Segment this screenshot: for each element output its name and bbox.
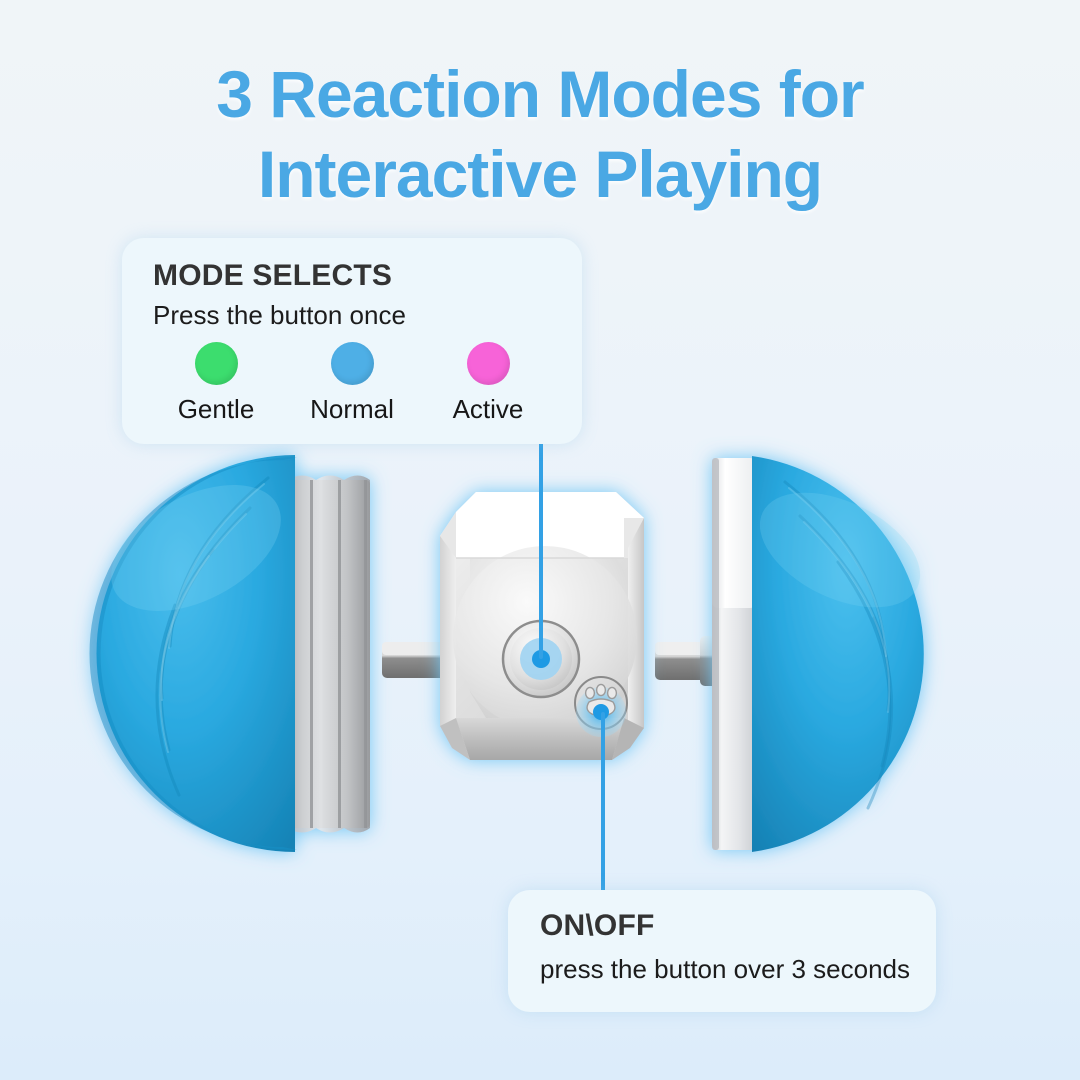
left-half-ball <box>90 455 371 852</box>
dot-blue-icon <box>331 342 374 385</box>
left-axle <box>382 642 448 678</box>
leader-line-mode <box>539 440 543 659</box>
leader-line-onoff <box>601 712 605 894</box>
mode-selects-heading: MODE SELECTS <box>153 258 392 294</box>
mode-selects-card: MODE SELECTS Press the button once Gentl… <box>122 238 582 444</box>
dot-magenta-icon <box>467 342 510 385</box>
right-half-ball <box>712 456 938 852</box>
onoff-subtext: press the button over 3 seconds <box>540 952 910 986</box>
mode-label-normal: Normal <box>310 393 394 425</box>
page-title-line-2: Interactive Playing <box>0 134 1080 214</box>
mode-label-active: Active <box>453 393 524 425</box>
dot-green-icon <box>195 342 238 385</box>
thread-collar <box>288 476 370 833</box>
mode-option-active[interactable]: Active <box>420 342 556 425</box>
onoff-card: ON\OFF press the button over 3 seconds <box>508 890 936 1012</box>
mode-option-gentle[interactable]: Gentle <box>148 342 284 425</box>
mode-option-normal[interactable]: Normal <box>284 342 420 425</box>
page-title-line-1: 3 Reaction Modes for <box>0 54 1080 134</box>
mode-selects-subtext: Press the button once <box>153 298 406 332</box>
infographic-canvas: 3 Reaction Modes for Interactive Playing <box>0 0 1080 1080</box>
mode-label-gentle: Gentle <box>178 393 255 425</box>
mode-list: Gentle Normal Active <box>148 342 558 425</box>
page-title: 3 Reaction Modes for Interactive Playing <box>0 54 1080 214</box>
onoff-heading: ON\OFF <box>540 908 655 944</box>
